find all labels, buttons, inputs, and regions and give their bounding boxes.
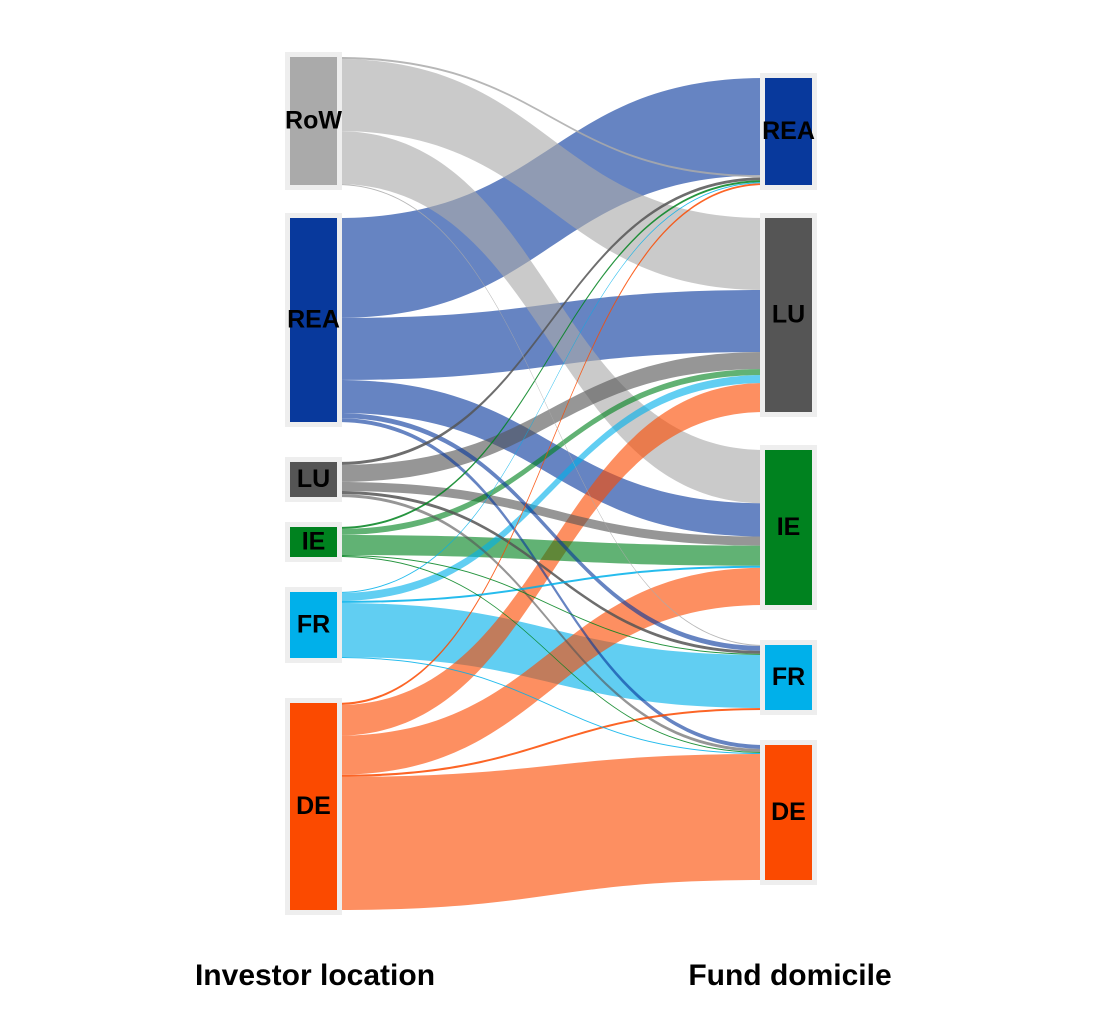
sankey-node-label-target-fr: FR	[772, 663, 805, 691]
sankey-node-label-target-rea: REA	[762, 117, 815, 145]
sankey-node-label-source-lu: LU	[297, 465, 330, 493]
sankey-node-label-source-ie: IE	[302, 528, 326, 556]
left-axis-title: Investor location	[195, 959, 435, 992]
sankey-link[interactable]	[337, 754, 765, 910]
sankey-node-label-target-ie: IE	[777, 513, 801, 541]
sankey-node-label-source-de: DE	[296, 792, 331, 820]
sankey-node-label-source-row: RoW	[285, 107, 342, 135]
sankey-links-layer	[337, 57, 765, 910]
right-axis-title: Fund domicile	[688, 959, 891, 992]
sankey-figure: RoWREALUIEFRDEREALUIEFRDE Investor locat…	[0, 0, 1093, 1025]
sankey-canvas: RoWREALUIEFRDEREALUIEFRDE Investor locat…	[0, 0, 1093, 1025]
sankey-node-label-target-de: DE	[771, 798, 806, 826]
sankey-node-label-target-lu: LU	[772, 301, 805, 329]
sankey-node-label-source-rea: REA	[287, 306, 340, 334]
sankey-node-label-source-fr: FR	[297, 611, 330, 639]
